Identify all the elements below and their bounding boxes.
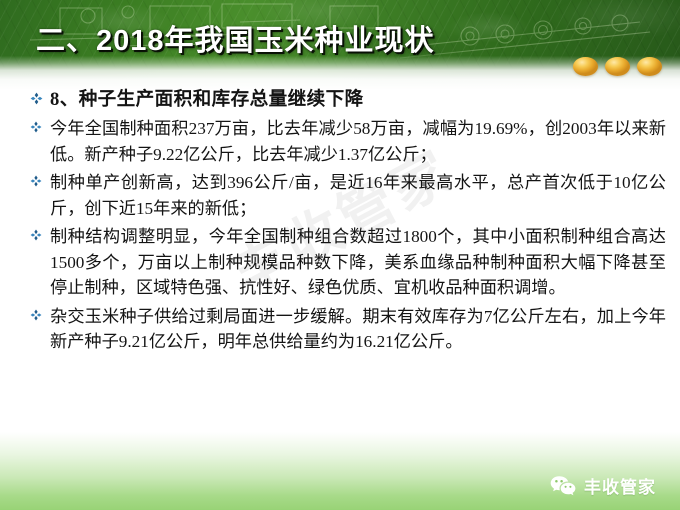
- diamond-bullet-icon: [30, 116, 50, 133]
- list-item: 制种结构调整明显，今年全国制种组合数超过1800个，其中小面积制种组合高达150…: [30, 224, 666, 301]
- list-item-text: 制种结构调整明显，今年全国制种组合数超过1800个，其中小面积制种组合高达150…: [50, 224, 666, 301]
- list-item-text: 今年全国制种面积237万亩，比去年减少58万亩，减幅为19.69%，创2003年…: [50, 116, 666, 167]
- list-item: 杂交玉米种子供给过剩局面进一步缓解。期末有效库存为7亿公斤左右，加上今年新产种子…: [30, 304, 666, 355]
- decor-ball-icon: [637, 57, 662, 76]
- decor-ball-icon: [573, 57, 598, 76]
- page-title: 二、2018年我国玉米种业现状: [36, 17, 435, 59]
- decor-ball-icon: [605, 57, 630, 76]
- list-item-text: 8、种子生产面积和库存总量继续下降: [50, 86, 666, 113]
- diamond-bullet-icon: [30, 304, 50, 321]
- list-item-text: 制种单产创新高，达到396公斤/亩，是近16年来最高水平，总产首次低于10亿公斤…: [50, 170, 666, 221]
- list-item: 今年全国制种面积237万亩，比去年减少58万亩，减幅为19.69%，创2003年…: [30, 116, 666, 167]
- list-item: 制种单产创新高，达到396公斤/亩，是近16年来最高水平，总产首次低于10亿公斤…: [30, 170, 666, 221]
- footer-brand-label: 丰收管家: [584, 473, 656, 498]
- wechat-icon: [550, 475, 577, 497]
- header-banner: 二、2018年我国玉米种业现状: [0, 0, 680, 90]
- slide-body: 8、种子生产面积和库存总量继续下降 今年全国制种面积237万亩，比去年减少58万…: [0, 86, 680, 358]
- list-item-text: 杂交玉米种子供给过剩局面进一步缓解。期末有效库存为7亿公斤左右，加上今年新产种子…: [50, 304, 666, 355]
- list-item: 8、种子生产面积和库存总量继续下降: [30, 86, 666, 113]
- footer-logo: 丰收管家: [550, 473, 656, 498]
- slide: 二、2018年我国玉米种业现状 丰收管家 8、种子生产面积和库存总量继续下降: [0, 0, 680, 510]
- diamond-bullet-icon: [30, 86, 50, 105]
- decor-balls: [573, 57, 662, 76]
- diamond-bullet-icon: [30, 224, 50, 241]
- diamond-bullet-icon: [30, 170, 50, 187]
- footer-band: [0, 432, 680, 510]
